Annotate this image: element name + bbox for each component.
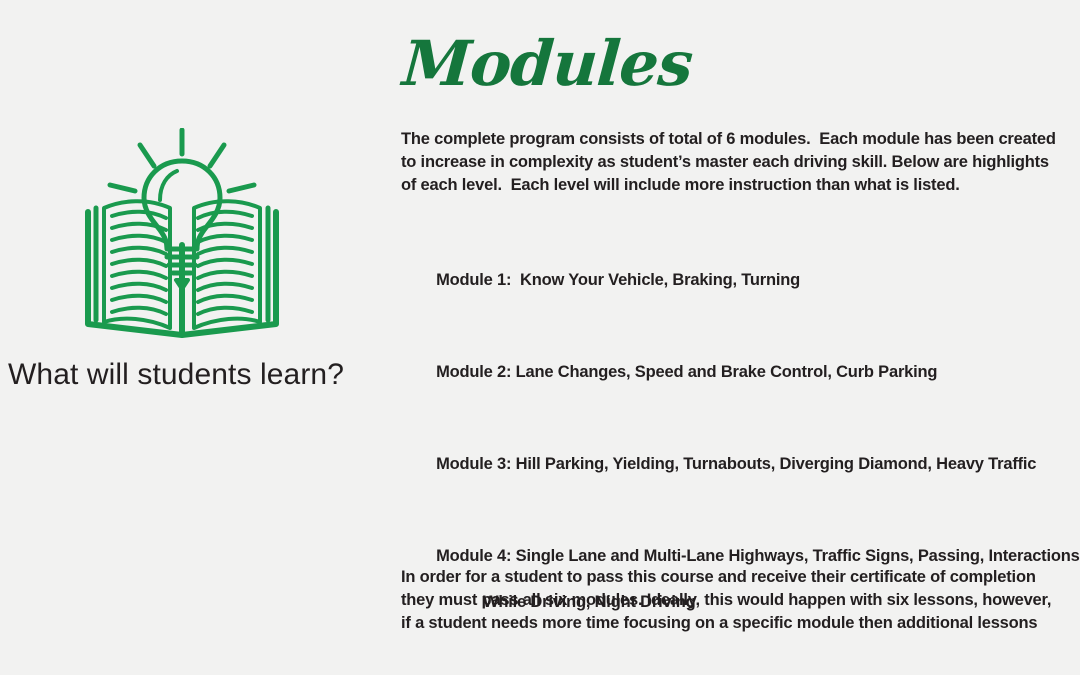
left-column: What will students learn?	[0, 0, 390, 675]
slide-root: What will students learn? Modules The co…	[0, 0, 1080, 675]
list-item: Module 1: Know Your Vehicle, Braking, Tu…	[401, 246, 1080, 315]
module-line-primary: Module 3: Hill Parking, Yielding, Turnab…	[436, 455, 1036, 473]
list-item: Module 3: Hill Parking, Yielding, Turnab…	[401, 430, 1080, 499]
list-item: Module 2: Lane Changes, Speed and Brake …	[401, 338, 1080, 407]
module-line-primary: Module 2: Lane Changes, Speed and Brake …	[436, 363, 937, 381]
intro-paragraph: The complete program consists of total o…	[401, 128, 1080, 197]
module-line-primary: Module 1: Know Your Vehicle, Braking, Tu…	[436, 271, 800, 289]
page-title: Modules	[400, 26, 695, 102]
module-line-primary: Module 4: Single Lane and Multi-Lane Hig…	[436, 547, 1080, 565]
learn-question-heading: What will students learn?	[8, 355, 388, 395]
right-column: Modules The complete program consists of…	[400, 0, 1080, 675]
outro-paragraph: In order for a student to pass this cour…	[401, 566, 1080, 635]
open-book-with-lightbulb-icon	[82, 128, 282, 343]
